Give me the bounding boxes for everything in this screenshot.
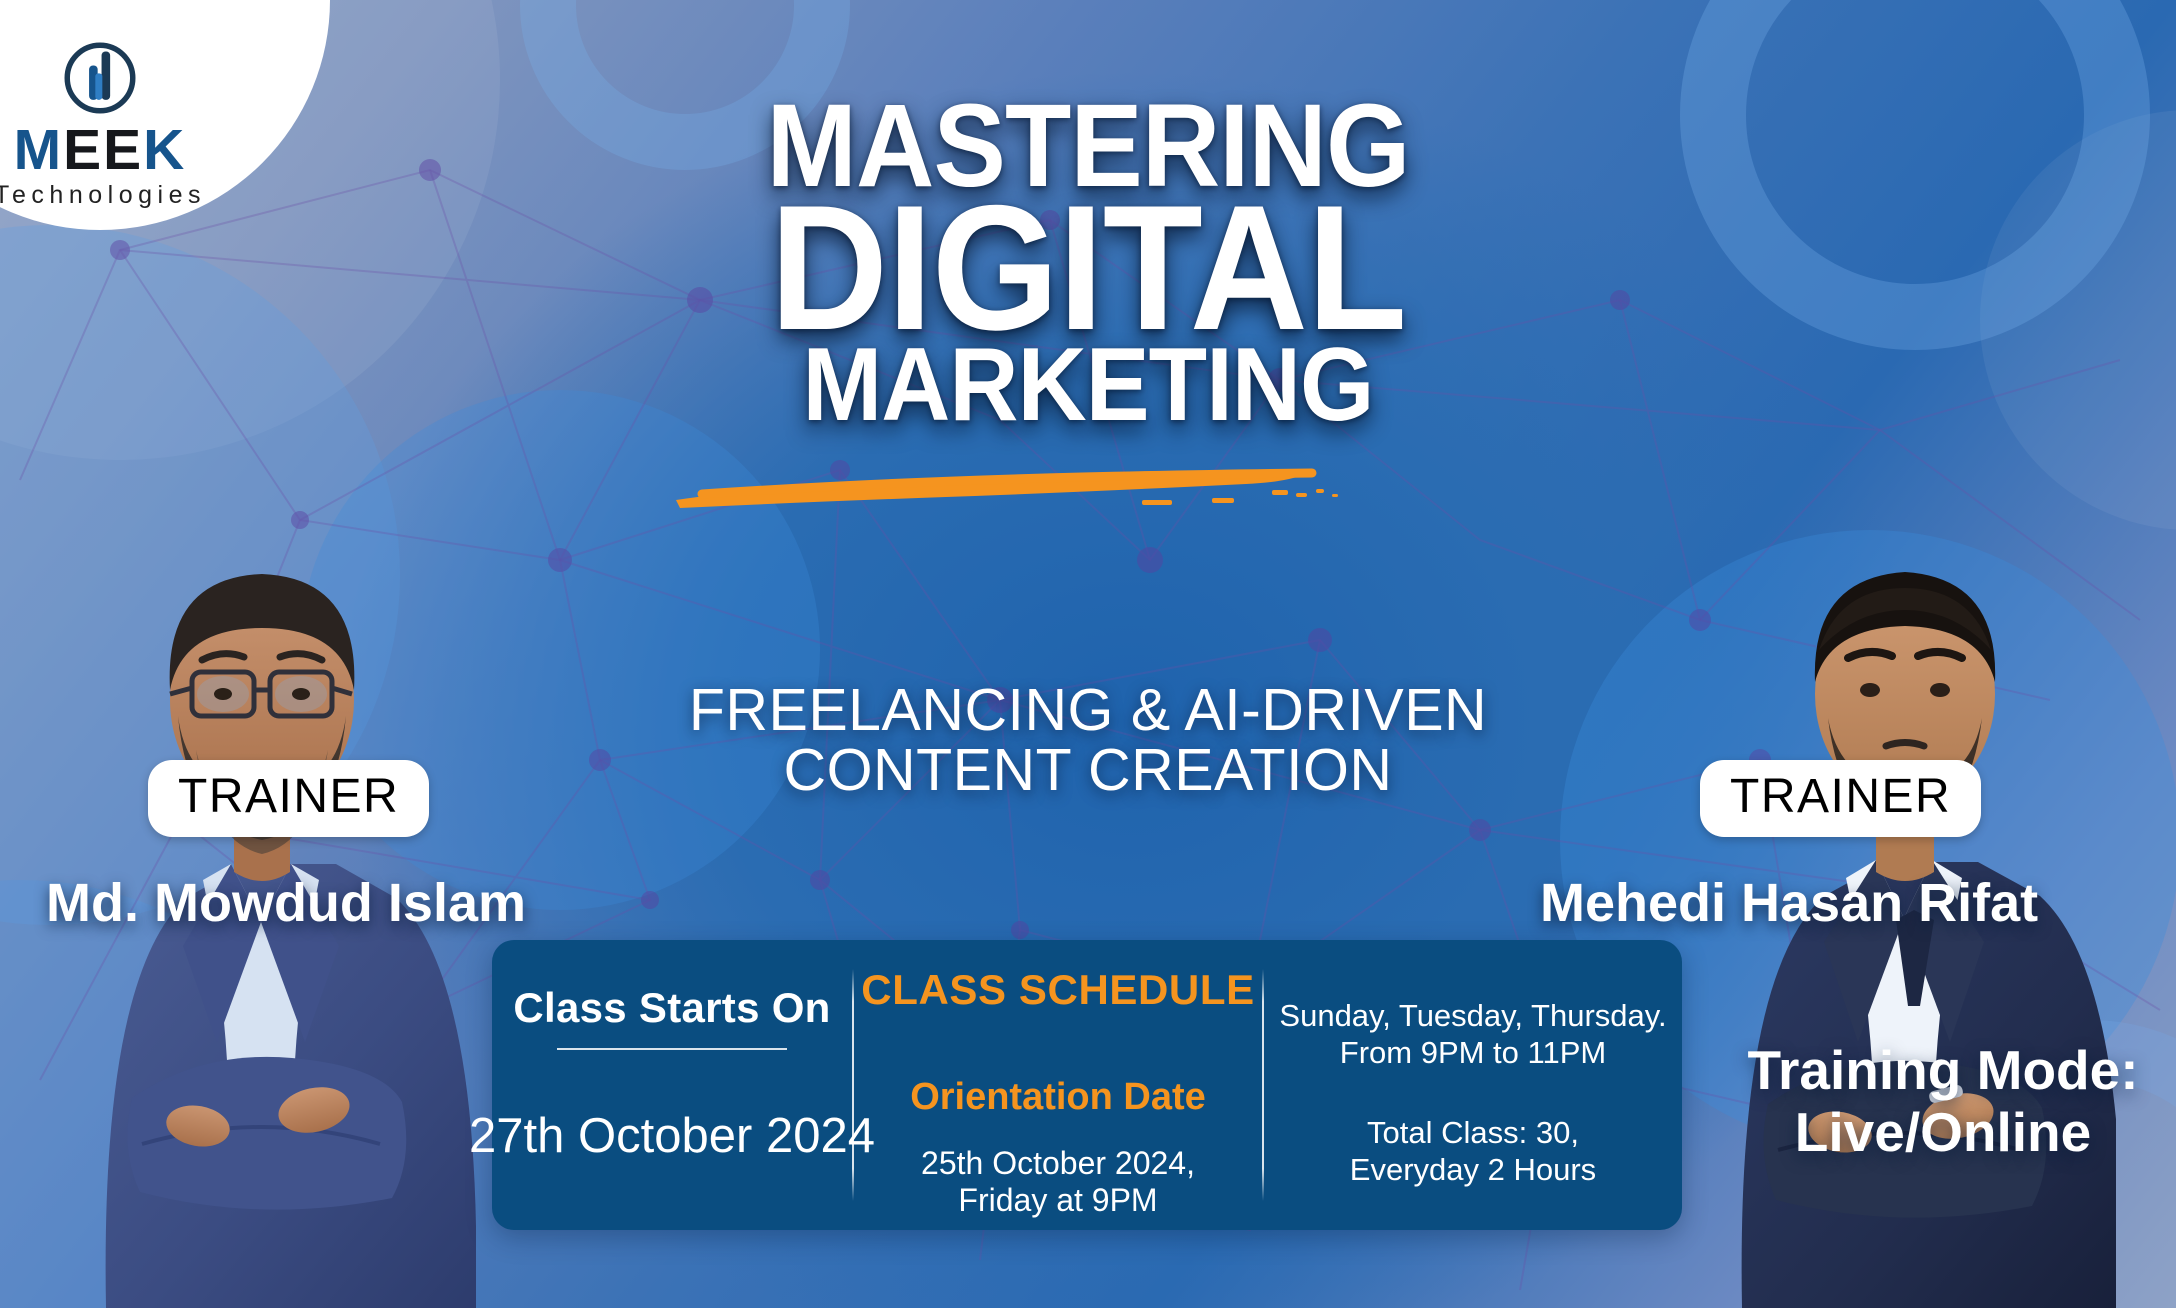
class-days-line-2: From 9PM to 11PM bbox=[1340, 1035, 1606, 1072]
class-start-column: Class Starts On 27th October 2024 bbox=[492, 940, 852, 1230]
training-mode-block: Training Mode: Live/Online bbox=[1718, 1040, 2168, 1163]
trainer-badge-left: TRAINER bbox=[148, 760, 429, 837]
class-starts-label: Class Starts On bbox=[513, 984, 830, 1032]
headline-line-2: DIGITAL bbox=[87, 191, 2089, 344]
timing-column: Sunday, Tuesday, Thursday. From 9PM to 1… bbox=[1264, 940, 1682, 1230]
orientation-date: 25th October 2024, Friday at 9PM bbox=[921, 1145, 1195, 1219]
orientation-label: Orientation Date bbox=[910, 1076, 1206, 1119]
trainer-name-left: Md. Mowdud Islam bbox=[46, 872, 526, 934]
total-class-line-1: Total Class: 30, bbox=[1367, 1115, 1579, 1152]
info-panel: Class Starts On 27th October 2024 CLASS … bbox=[492, 940, 1682, 1230]
orientation-date-line-1: 25th October 2024, bbox=[921, 1145, 1195, 1182]
total-class-line-2: Everyday 2 Hours bbox=[1350, 1152, 1596, 1189]
orientation-date-line-2: Friday at 9PM bbox=[921, 1182, 1195, 1219]
class-starts-date: 27th October 2024 bbox=[469, 1108, 875, 1164]
trainer-badge-right: TRAINER bbox=[1700, 760, 1981, 837]
training-mode-line-2: Live/Online bbox=[1718, 1102, 2168, 1164]
brush-underline-icon bbox=[672, 468, 1352, 510]
trainer-name-right: Mehedi Hasan Rifat bbox=[1540, 872, 2038, 934]
divider bbox=[557, 1048, 787, 1050]
schedule-column: CLASS SCHEDULE Orientation Date 25th Oct… bbox=[854, 940, 1262, 1230]
headline-line-3: MARKETING bbox=[87, 341, 2089, 430]
subtitle-line-1: FREELANCING & AI-DRIVEN bbox=[0, 680, 2176, 740]
headline-block: MASTERING DIGITAL MARKETING bbox=[0, 96, 2176, 430]
training-mode-line-1: Training Mode: bbox=[1718, 1040, 2168, 1102]
promo-banner: MEEK Technologies bbox=[0, 0, 2176, 1308]
class-days-line-1: Sunday, Tuesday, Thursday. bbox=[1279, 998, 1666, 1035]
class-schedule-title: CLASS SCHEDULE bbox=[861, 966, 1254, 1014]
